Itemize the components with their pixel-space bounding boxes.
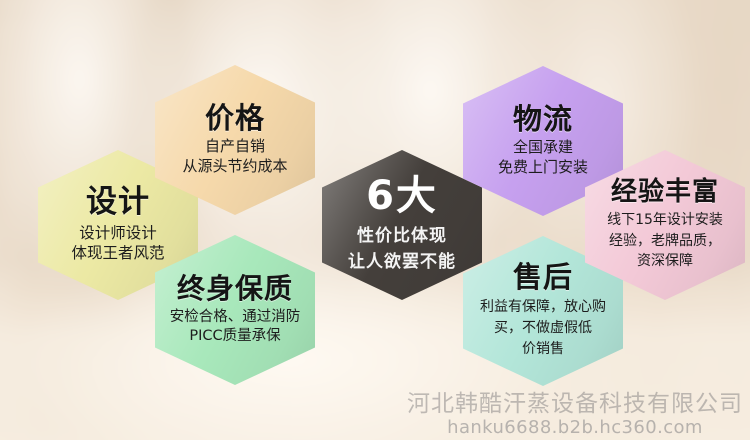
hex-body-line: 利益有保障，放心购	[469, 297, 617, 318]
hex-body-line: 经验，老牌品质，	[591, 231, 739, 251]
hex-body-price: 自产自销 从源头节约成本	[161, 137, 309, 177]
hex-body-line: 设计师设计	[44, 223, 192, 243]
hex-body-line: 线下15年设计安装	[591, 210, 739, 230]
hex-title-experience: 经验丰富	[591, 179, 739, 206]
hex-body-line: 自产自销	[161, 137, 309, 157]
hex-body-line: 全国承建	[469, 138, 617, 158]
poster-canvas: 设计 设计师设计 体现王者风范 价格 自产自销 从源头节约成本 终身保质 安检合…	[0, 0, 750, 440]
hex-body-design: 设计师设计 体现王者风范	[44, 223, 192, 264]
hex-title-warranty: 终身保质	[161, 274, 309, 303]
hex-body-warranty: 安检合格、通过消防 PICC质量承保	[161, 308, 309, 346]
center-body-line: 性价比体现	[328, 223, 476, 249]
hex-title-price: 价格	[161, 103, 309, 133]
hex-body-service: 利益有保障，放心购 买，不做虚假低 价销售	[469, 297, 617, 360]
center-body: 性价比体现 让人欲罢不能	[328, 223, 476, 276]
hex-body-line: 资深保障	[591, 251, 739, 271]
hex-title-design: 设计	[44, 186, 192, 219]
hex-body-line: 买，不做虚假低	[469, 318, 617, 339]
hex-body-logistics: 全国承建 免费上门安装	[469, 138, 617, 178]
hex-body-experience: 线下15年设计安装 经验，老牌品质， 资深保障	[591, 210, 739, 271]
center-body-line: 让人欲罢不能	[328, 249, 476, 275]
hex-body-line: 从源头节约成本	[161, 157, 309, 177]
hex-body-line: 安检合格、通过消防	[161, 308, 309, 327]
hex-body-line: PICC质量承保	[161, 327, 309, 346]
hex-body-line: 体现王者风范	[44, 243, 192, 263]
hex-body-line: 免费上门安装	[469, 158, 617, 178]
center-headline: 6大	[328, 175, 476, 217]
hex-title-logistics: 物流	[469, 104, 617, 134]
hex-body-line: 价销售	[469, 339, 617, 360]
